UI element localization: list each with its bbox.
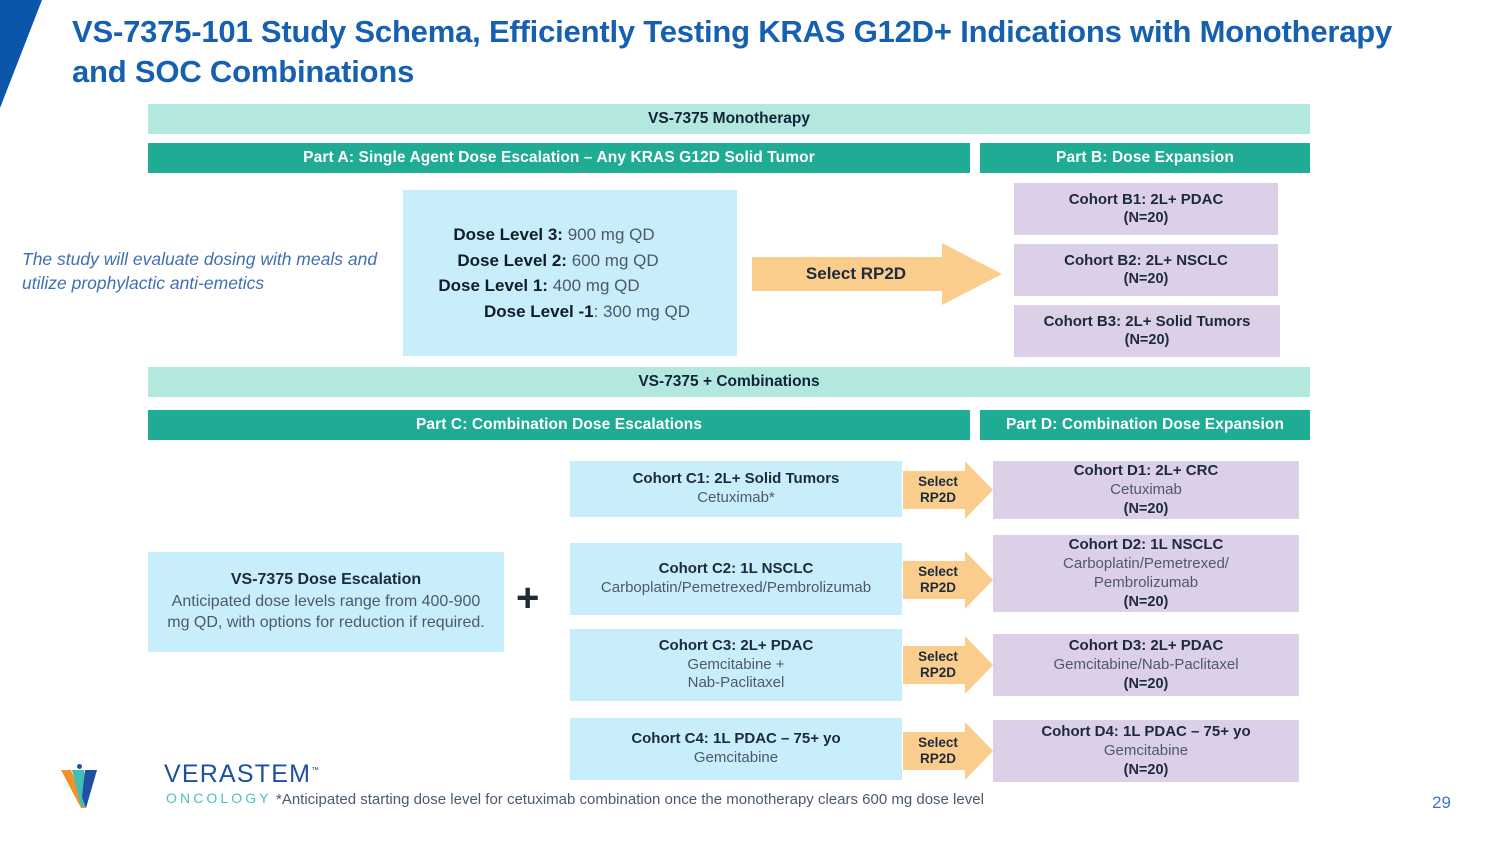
cohort-b1-n: (N=20) xyxy=(1124,209,1169,227)
dose-level-3-label: Dose Level 3: xyxy=(453,225,563,244)
verastem-v-mark-icon xyxy=(60,764,108,810)
arrow-label-line2: RP2D xyxy=(920,580,956,596)
cohort-d1-n: (N=20) xyxy=(1124,500,1169,518)
vs7375-dose-escalation-box: VS-7375 Dose Escalation Anticipated dose… xyxy=(148,552,504,652)
page-number: 29 xyxy=(1432,793,1451,813)
trademark-symbol: ™ xyxy=(311,766,320,775)
select-rp2d-arrow-c1-to-d1: Select RP2D xyxy=(903,461,993,519)
cohort-b2-n: (N=20) xyxy=(1124,270,1169,288)
cohort-d2-n: (N=20) xyxy=(1124,593,1169,611)
cohort-c1-title: Cohort C1: 2L+ Solid Tumors xyxy=(633,470,840,489)
cohort-d4-title: Cohort D4: 1L PDAC – 75+ yo xyxy=(1041,723,1250,742)
part-d-header-label: Part D: Combination Dose Expansion xyxy=(1006,416,1284,434)
vs7375-dose-escalation-title: VS-7375 Dose Escalation xyxy=(231,571,421,589)
arrow-label-line2: RP2D xyxy=(920,665,956,681)
dose-level-3-value: 900 mg QD xyxy=(563,225,655,244)
dose-level-1-label: Dose Level 1: xyxy=(438,276,548,295)
cohort-c3-box[interactable]: Cohort C3: 2L+ PDAC Gemcitabine + Nab-Pa… xyxy=(570,629,902,701)
cohort-d3-regimen: Gemcitabine/Nab-Paclitaxel xyxy=(1053,656,1238,675)
part-b-header: Part B: Dose Expansion xyxy=(980,143,1310,173)
plus-sign: + xyxy=(516,578,539,618)
select-rp2d-arrow-part-a-to-b: Select RP2D xyxy=(752,243,1002,305)
cohort-d3-n: (N=20) xyxy=(1124,675,1169,693)
cohort-c4-regimen: Gemcitabine xyxy=(694,749,778,768)
select-rp2d-arrow-label: Select RP2D xyxy=(752,243,1002,305)
part-d-header: Part D: Combination Dose Expansion xyxy=(980,410,1310,440)
section-header-monotherapy: VS-7375 Monotherapy xyxy=(148,104,1310,134)
cohort-b3-n: (N=20) xyxy=(1125,331,1170,349)
cohort-c2-title: Cohort C2: 1L NSCLC xyxy=(659,560,814,579)
footnote: *Anticipated starting dose level for cet… xyxy=(276,791,984,808)
cohort-c3-regimen: Gemcitabine + Nab-Paclitaxel xyxy=(687,656,784,694)
arrow-label-line2: RP2D xyxy=(920,751,956,767)
verastem-tagline: ONCOLOGY xyxy=(166,791,320,805)
select-rp2d-label-4: Select RP2D xyxy=(903,722,993,780)
dose-level-minus-1-value: : 300 mg QD xyxy=(594,302,690,321)
cohort-d1-title: Cohort D1: 2L+ CRC xyxy=(1074,462,1219,481)
cohort-d4-n: (N=20) xyxy=(1124,761,1169,779)
dose-level-1-value: 400 mg QD xyxy=(548,276,640,295)
verastem-name-text: VERASTEM xyxy=(164,760,311,788)
cohort-d3-title: Cohort D3: 2L+ PDAC xyxy=(1069,637,1224,656)
dose-level-1: Dose Level 1: 400 mg QD xyxy=(438,273,639,299)
cohort-b3-title: Cohort B3: 2L+ Solid Tumors xyxy=(1044,313,1251,332)
dose-level-2-label: Dose Level 2: xyxy=(457,251,567,270)
cohort-b1-title: Cohort B1: 2L+ PDAC xyxy=(1069,191,1224,210)
select-rp2d-arrow-c3-to-d3: Select RP2D xyxy=(903,636,993,694)
cohort-b1-box[interactable]: Cohort B1: 2L+ PDAC (N=20) xyxy=(1014,183,1278,235)
cohort-b3-box[interactable]: Cohort B3: 2L+ Solid Tumors (N=20) xyxy=(1014,305,1280,357)
page-title: VS-7375-101 Study Schema, Efficiently Te… xyxy=(72,12,1412,91)
dose-level-minus-1: Dose Level -1: 300 mg QD xyxy=(484,299,690,325)
arrow-label-line1: Select xyxy=(918,649,958,665)
slide-canvas: VS-7375-101 Study Schema, Efficiently Te… xyxy=(0,0,1500,844)
part-b-header-label: Part B: Dose Expansion xyxy=(1056,149,1234,167)
verastem-logo: VERASTEM™ ONCOLOGY xyxy=(60,762,260,812)
select-rp2d-arrow-c4-to-d4: Select RP2D xyxy=(903,722,993,780)
arrow-label-line2: RP2D xyxy=(920,490,956,506)
verastem-wordmark: VERASTEM™ ONCOLOGY xyxy=(164,762,320,805)
section-header-monotherapy-label: VS-7375 Monotherapy xyxy=(648,110,810,128)
cohort-b2-title: Cohort B2: 2L+ NSCLC xyxy=(1064,252,1228,271)
dose-level-3: Dose Level 3: 900 mg QD xyxy=(453,222,654,248)
part-c-header: Part C: Combination Dose Escalations xyxy=(148,410,970,440)
cohort-d3-box[interactable]: Cohort D3: 2L+ PDAC Gemcitabine/Nab-Pacl… xyxy=(993,634,1299,696)
cohort-c2-box[interactable]: Cohort C2: 1L NSCLC Carboplatin/Pemetrex… xyxy=(570,543,902,615)
cohort-d2-title: Cohort D2: 1L NSCLC xyxy=(1069,536,1224,555)
cohort-d4-regimen: Gemcitabine xyxy=(1104,742,1188,761)
dose-level-2-value: 600 mg QD xyxy=(567,251,659,270)
cohort-d2-box[interactable]: Cohort D2: 1L NSCLC Carboplatin/Pemetrex… xyxy=(993,535,1299,612)
cohort-c4-box[interactable]: Cohort C4: 1L PDAC – 75+ yo Gemcitabine xyxy=(570,718,902,780)
part-a-header-label: Part A: Single Agent Dose Escalation – A… xyxy=(303,149,815,167)
cohort-c1-regimen: Cetuximab* xyxy=(697,489,775,508)
cohort-d4-box[interactable]: Cohort D4: 1L PDAC – 75+ yo Gemcitabine … xyxy=(993,720,1299,782)
vs7375-dose-escalation-body: Anticipated dose levels range from 400-9… xyxy=(162,592,490,633)
dose-level-box: Dose Level 3: 900 mg QD Dose Level 2: 60… xyxy=(403,190,737,356)
corner-wedge-decoration xyxy=(0,0,60,108)
part-a-header: Part A: Single Agent Dose Escalation – A… xyxy=(148,143,970,173)
dose-level-2: Dose Level 2: 600 mg QD xyxy=(457,248,658,274)
cohort-d1-box[interactable]: Cohort D1: 2L+ CRC Cetuximab (N=20) xyxy=(993,461,1299,519)
cohort-c3-title: Cohort C3: 2L+ PDAC xyxy=(659,637,814,656)
section-header-combinations: VS-7375 + Combinations xyxy=(148,367,1310,397)
cohort-c1-box[interactable]: Cohort C1: 2L+ Solid Tumors Cetuximab* xyxy=(570,461,902,517)
arrow-label-line1: Select xyxy=(918,735,958,751)
cohort-c4-title: Cohort C4: 1L PDAC – 75+ yo xyxy=(631,730,840,749)
select-rp2d-label-3: Select RP2D xyxy=(903,636,993,694)
arrow-label-line1: Select xyxy=(918,474,958,490)
dose-level-minus-1-label: Dose Level -1 xyxy=(484,302,594,321)
verastem-name: VERASTEM™ xyxy=(164,762,320,787)
part-c-header-label: Part C: Combination Dose Escalations xyxy=(416,416,702,434)
cohort-b2-box[interactable]: Cohort B2: 2L+ NSCLC (N=20) xyxy=(1014,244,1278,296)
cohort-d2-regimen: Carboplatin/Pemetrexed/ Pembrolizumab xyxy=(1063,555,1229,593)
cohort-c2-regimen: Carboplatin/Pemetrexed/Pembrolizumab xyxy=(601,579,871,598)
arrow-label-line1: Select xyxy=(918,564,958,580)
study-note: The study will evaluate dosing with meal… xyxy=(22,248,392,295)
cohort-d1-regimen: Cetuximab xyxy=(1110,481,1182,500)
select-rp2d-arrow-c2-to-d2: Select RP2D xyxy=(903,551,993,609)
select-rp2d-label-1: Select RP2D xyxy=(903,461,993,519)
section-header-combinations-label: VS-7375 + Combinations xyxy=(638,373,819,391)
select-rp2d-label-2: Select RP2D xyxy=(903,551,993,609)
